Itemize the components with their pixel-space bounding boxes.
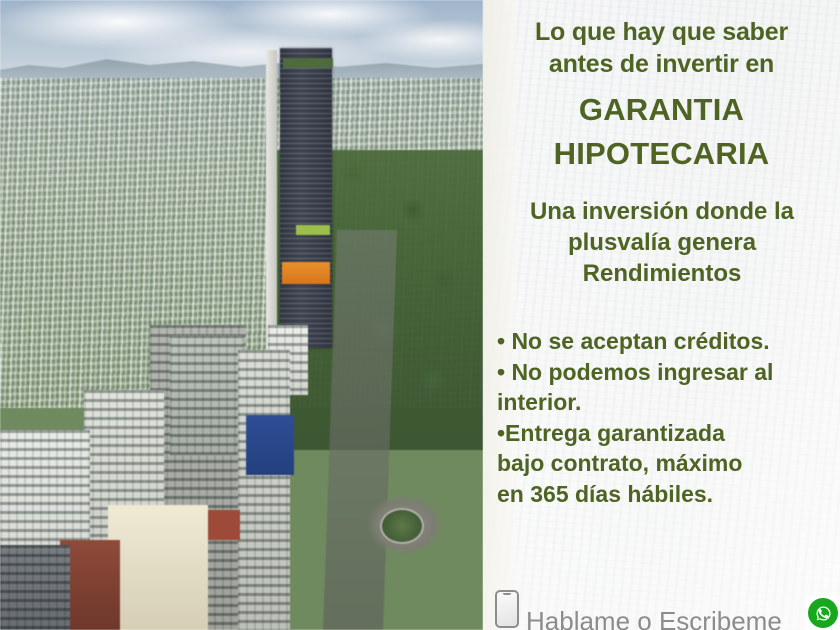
headline-line-1: Lo que hay que saber: [493, 16, 830, 48]
whatsapp-button[interactable]: [806, 596, 840, 630]
panel-content: Lo que hay que saber antes de invertir e…: [483, 0, 840, 630]
headline-emphasis-2: HIPOTECARIA: [493, 132, 830, 176]
headline-emphasis-1: GARANTIA: [493, 88, 830, 132]
city-photo: [0, 0, 483, 630]
tower-green-band: [296, 225, 330, 235]
subheadline: Una inversión donde la plusvalía genera …: [495, 196, 829, 290]
window-grid: [170, 335, 244, 455]
list-item: interior.: [497, 387, 837, 418]
headline-emphasis: GARANTIA HIPOTECARIA: [493, 88, 830, 176]
headline: Lo que hay que saber antes de invertir e…: [493, 16, 830, 80]
window-grid: [0, 545, 70, 630]
subheadline-line-3: Rendimientos: [495, 258, 829, 289]
skyscraper: [280, 48, 332, 348]
list-item: en 365 días hábiles.: [497, 479, 837, 510]
smartphone-icon: [495, 590, 519, 628]
list-item: •Entrega garantizada: [497, 418, 837, 449]
tower-mast: [266, 50, 277, 350]
list-item: • No se aceptan créditos.: [497, 326, 837, 357]
contact-footer: Hablame o Escribeme: [495, 586, 840, 630]
subheadline-line-1: Una inversión donde la: [495, 196, 829, 227]
building-block: [170, 335, 244, 455]
text-panel: Lo que hay que saber antes de invertir e…: [483, 0, 840, 630]
tower-orange-base: [282, 262, 330, 284]
whatsapp-icon: [808, 598, 838, 628]
building-block-beige: [108, 505, 208, 630]
window-grid: [238, 350, 290, 630]
headline-line-2: antes de invertir en: [493, 48, 830, 80]
list-item: bajo contrato, máximo: [497, 448, 837, 479]
poster-container: Lo que hay que saber antes de invertir e…: [0, 0, 840, 630]
contact-text: Hablame o Escribeme: [526, 608, 799, 630]
avenue-region: [323, 230, 397, 630]
fountain-monument: [382, 510, 422, 542]
list-item: • No podemos ingresar al: [497, 357, 837, 388]
building-block: [238, 350, 290, 630]
subheadline-line-2: plusvalía genera: [495, 227, 829, 258]
bullet-list: • No se aceptan créditos. • No podemos i…: [497, 326, 837, 509]
building-block-dark: [0, 545, 70, 630]
building-block-blue: [246, 415, 294, 475]
tower-crown: [283, 58, 333, 68]
